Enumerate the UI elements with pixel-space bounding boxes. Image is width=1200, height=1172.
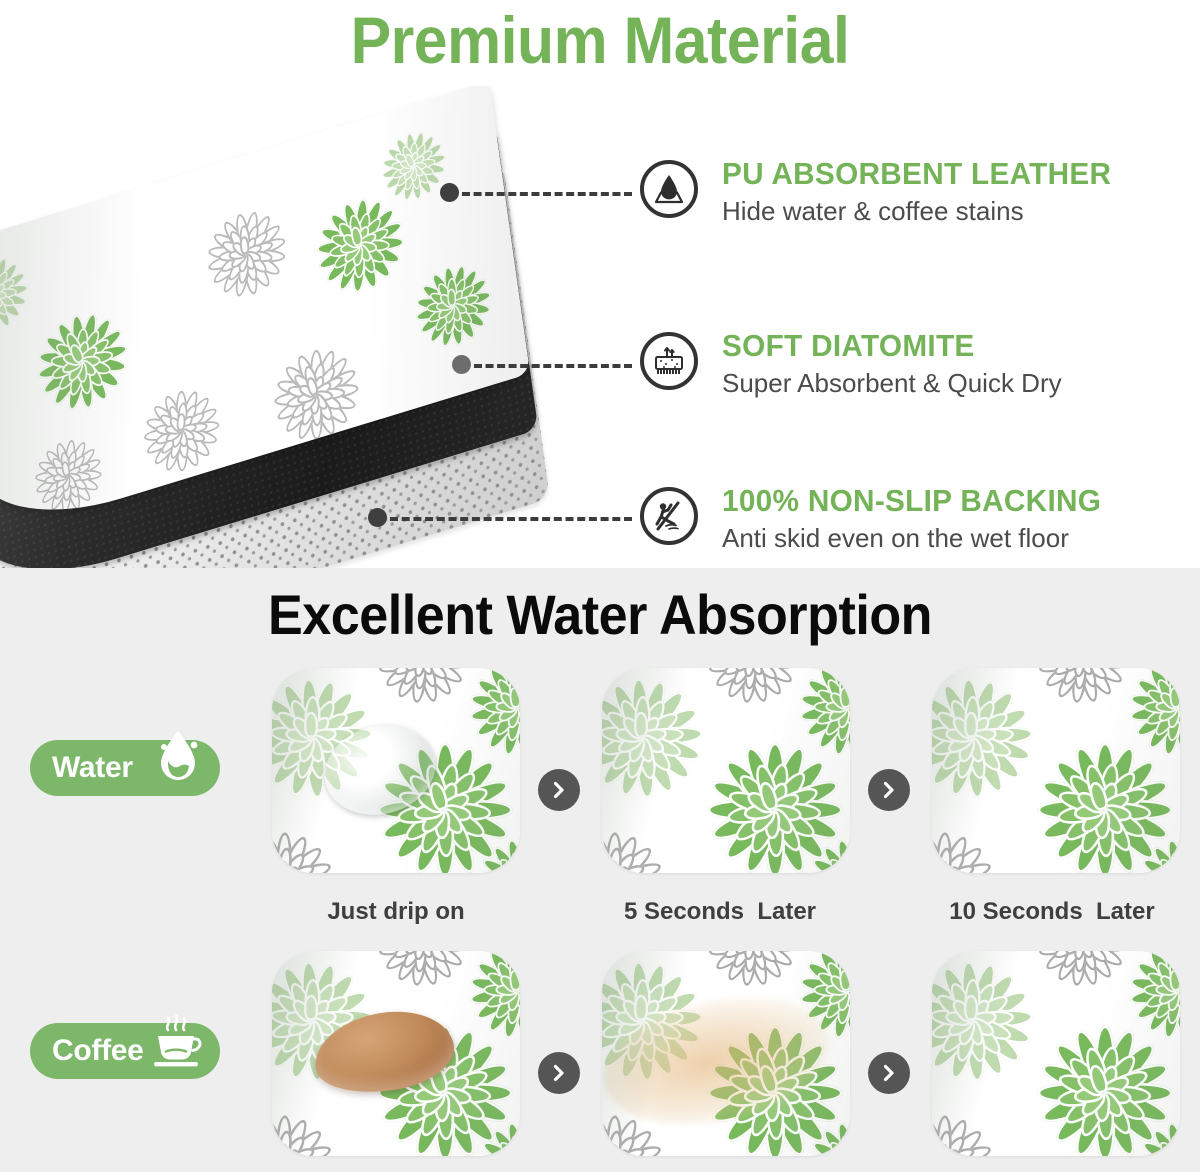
chevron-right-icon <box>550 1064 568 1082</box>
chevron-right-icon <box>880 1064 898 1082</box>
feature-subtext: Anti skid even on the wet floor <box>722 521 1192 555</box>
leader-line-diatomite <box>474 364 632 368</box>
callout-dot-backing <box>368 508 387 527</box>
caption-water-step-2: 5 Seconds Later <box>590 898 850 926</box>
product-infographic: Premium Material PU <box>0 0 1200 1172</box>
feature-heading: SOFT DIATOMITE <box>722 328 1173 364</box>
feature-text-block: PU ABSORBENT LEATHER Hide water & coffee… <box>722 156 1192 228</box>
tile-water-step-2 <box>602 668 850 873</box>
leader-line-pu <box>462 192 632 196</box>
no-slip-person-icon <box>640 487 698 545</box>
tile-coffee-step-1 <box>272 951 520 1156</box>
tile-water-step-3 <box>932 668 1180 873</box>
feature-text-block: 100% NON-SLIP BACKING Anti skid even on … <box>722 483 1192 555</box>
feature-heading: 100% NON-SLIP BACKING <box>722 483 1173 519</box>
layered-mat-photo <box>0 86 620 568</box>
water-absorption-section: Excellent Water Absorption Water <box>0 568 1200 1172</box>
chevron-right-icon <box>880 781 898 799</box>
feature-heading: PU ABSORBENT LEATHER <box>722 156 1173 192</box>
mat-floral-pattern <box>602 668 850 873</box>
leader-line-backing <box>390 517 632 521</box>
badge-coffee: Coffee <box>30 1023 220 1079</box>
water-drop-icon <box>150 741 206 795</box>
mat-floral-pattern <box>932 951 1180 1156</box>
caption-water-step-3: 10 Seconds Later <box>922 898 1182 926</box>
badge-label: Water <box>52 753 133 783</box>
arrow-water-1-to-2 <box>538 769 580 811</box>
section-title-water-absorption: Excellent Water Absorption <box>42 582 1158 648</box>
tile-coffee-step-3 <box>932 951 1180 1156</box>
badge-label: Coffee <box>52 1036 144 1066</box>
callout-dot-pu <box>440 183 459 202</box>
mat-floral-pattern <box>932 668 1180 873</box>
tile-coffee-step-2 <box>602 951 850 1156</box>
diatomite-block-icon <box>640 332 698 390</box>
callout-dot-diatomite <box>452 355 471 374</box>
arrow-water-2-to-3 <box>868 769 910 811</box>
arrow-coffee-2-to-3 <box>868 1052 910 1094</box>
feature-text-block: SOFT DIATOMITE Super Absorbent & Quick D… <box>722 328 1192 400</box>
feature-subtext: Super Absorbent & Quick Dry <box>722 366 1192 400</box>
chevron-right-icon <box>550 781 568 799</box>
badge-water: Water <box>30 740 220 796</box>
caption-water-step-1: Just drip on <box>266 898 526 926</box>
coffee-cup-icon <box>148 1022 206 1080</box>
premium-material-section: Premium Material PU <box>0 0 1200 568</box>
tile-water-step-1 <box>272 668 520 873</box>
page-title-premium-material: Premium Material <box>48 2 1152 78</box>
arrow-coffee-1-to-2 <box>538 1052 580 1094</box>
water-drop-on-mat-icon <box>640 160 698 218</box>
feature-subtext: Hide water & coffee stains <box>722 194 1192 228</box>
